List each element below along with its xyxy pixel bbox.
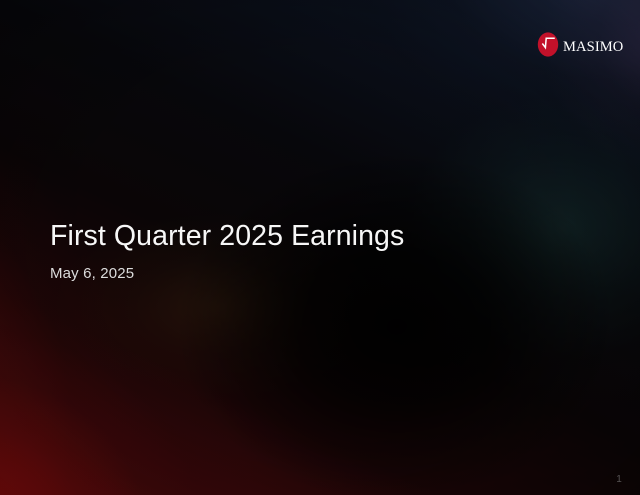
- masimo-logo: Masimo: [537, 30, 625, 58]
- title-slide: Masimo First Quarter 2025 Earnings May 6…: [0, 0, 640, 495]
- title-block: First Quarter 2025 Earnings May 6, 2025: [50, 220, 570, 283]
- slide-date: May 6, 2025: [50, 265, 570, 283]
- page-title: First Quarter 2025 Earnings: [50, 220, 570, 253]
- masimo-wordmark: Masimo: [563, 33, 623, 55]
- page-number: 1: [616, 474, 622, 485]
- masimo-shield-radical-icon: [537, 32, 559, 57]
